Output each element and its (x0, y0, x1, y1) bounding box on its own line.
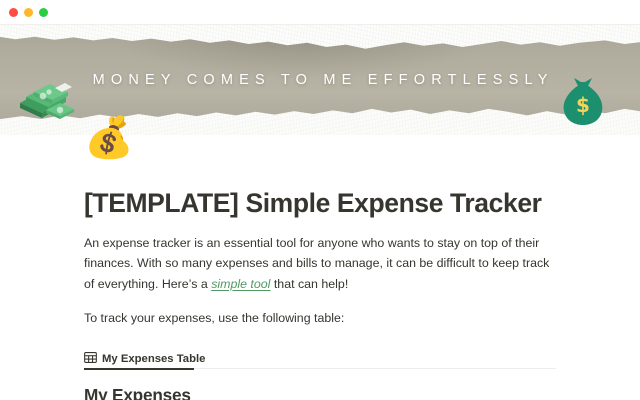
intro-paragraph: An expense tracker is an essential tool … (84, 233, 556, 295)
page-content: [TEMPLATE] Simple Expense Tracker An exp… (0, 135, 640, 400)
app-window: $ MONEY COMES TO ME EFFORTLESSLY 💰 [TEMP… (0, 0, 640, 400)
tab-my-expenses-table[interactable]: My Expenses Table (84, 349, 209, 369)
database-title: My Expenses (84, 385, 556, 400)
active-tab-underline (84, 368, 194, 370)
window-maximize-button[interactable] (39, 8, 48, 17)
money-bag-emoji: 💰 (84, 118, 134, 158)
tab-label: My Expenses Table (102, 353, 205, 365)
intro-text-after-link: that can help! (270, 277, 348, 291)
instruction-paragraph: To track your expenses, use the followin… (84, 308, 556, 329)
window-close-button[interactable] (9, 8, 18, 17)
database-tabstrip: My Expenses Table (84, 349, 556, 370)
window-titlebar (0, 0, 640, 25)
simple-tool-link[interactable]: simple tool (211, 277, 270, 291)
page-title: [TEMPLATE] Simple Expense Tracker (84, 188, 556, 219)
tabstrip-divider (194, 368, 556, 369)
table-grid-icon (84, 351, 97, 367)
window-minimize-button[interactable] (24, 8, 33, 17)
